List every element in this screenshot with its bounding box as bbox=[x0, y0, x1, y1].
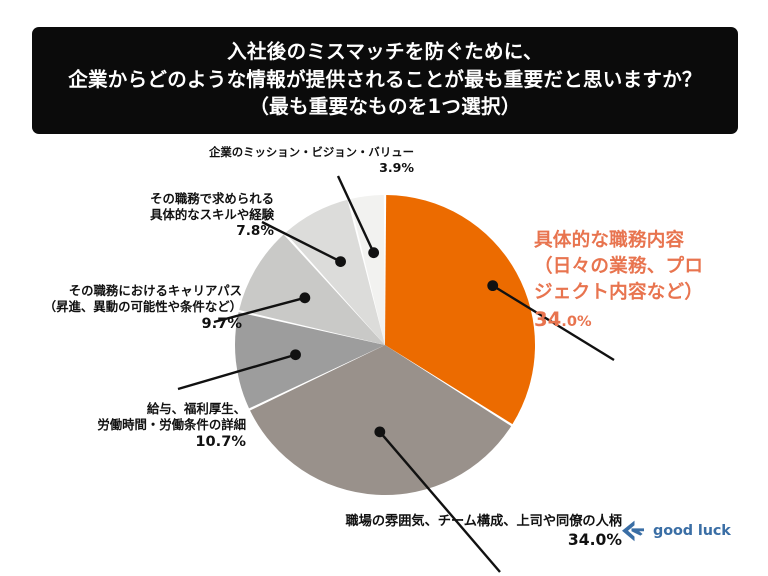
callout-career-line-1: その職務におけるキャリアパス bbox=[16, 283, 242, 299]
callout-atmosphere: 職場の雰囲気、チーム構成、上司や同僚の人柄 34.0% bbox=[272, 513, 622, 550]
leader-dot bbox=[487, 280, 498, 291]
infographic-root: 入社後のミスマッチを防ぐために、 企業からどのような情報が提供されることが最も重… bbox=[0, 0, 768, 576]
callout-career-pct: 9.7% bbox=[16, 315, 242, 334]
callout-job-content-line-2: （日々の業務、プロ bbox=[534, 254, 766, 280]
callout-job-content-line-3: ジェクト内容など） bbox=[534, 280, 766, 306]
callout-job-content-pct-minor: .0% bbox=[561, 313, 591, 330]
brand-logo-text: good luck bbox=[653, 523, 731, 539]
callout-atmosphere-pct: 34.0% bbox=[272, 530, 622, 550]
callout-career-line-2: （昇進、異動の可能性や条件など） bbox=[16, 299, 242, 315]
callout-mvv-pct: 3.9% bbox=[196, 160, 414, 176]
leader-dot bbox=[368, 247, 379, 258]
chevron-arrow-g-icon bbox=[620, 519, 646, 543]
callout-job-content: 具体的な職務内容 （日々の業務、プロ ジェクト内容など） 34.0% bbox=[534, 228, 766, 334]
callout-job-content-pct-major: 34 bbox=[534, 308, 561, 331]
leader-dot bbox=[290, 349, 301, 360]
callout-skill-line-2: 具体的なスキルや経験 bbox=[92, 207, 274, 223]
callout-job-content-pct: 34.0% bbox=[534, 306, 766, 333]
callout-job-content-line-1: 具体的な職務内容 bbox=[534, 228, 766, 254]
callout-mvv: 企業のミッション・ビジョン・バリュー 3.9% bbox=[196, 145, 414, 176]
leader-dot bbox=[374, 426, 385, 437]
callout-skill: その職務で求められる 具体的なスキルや経験 7.8% bbox=[92, 191, 274, 241]
leader-dot bbox=[335, 256, 346, 267]
callout-salary-pct: 10.7% bbox=[44, 433, 246, 452]
callout-skill-pct: 7.8% bbox=[92, 223, 274, 241]
callout-salary: 給与、福利厚生、 労働時間・労働条件の詳細 10.7% bbox=[44, 401, 246, 452]
callout-salary-line-2: 労働時間・労働条件の詳細 bbox=[44, 417, 246, 433]
callout-atmosphere-line-1: 職場の雰囲気、チーム構成、上司や同僚の人柄 bbox=[272, 513, 622, 530]
pie-slices bbox=[235, 195, 535, 495]
callout-mvv-line-1: 企業のミッション・ビジョン・バリュー bbox=[196, 145, 414, 160]
callout-career: その職務におけるキャリアパス （昇進、異動の可能性や条件など） 9.7% bbox=[16, 283, 242, 334]
brand-logo: good luck bbox=[620, 516, 731, 546]
callout-skill-line-1: その職務で求められる bbox=[92, 191, 274, 207]
leader-dot bbox=[299, 292, 310, 303]
callout-salary-line-1: 給与、福利厚生、 bbox=[44, 401, 246, 417]
